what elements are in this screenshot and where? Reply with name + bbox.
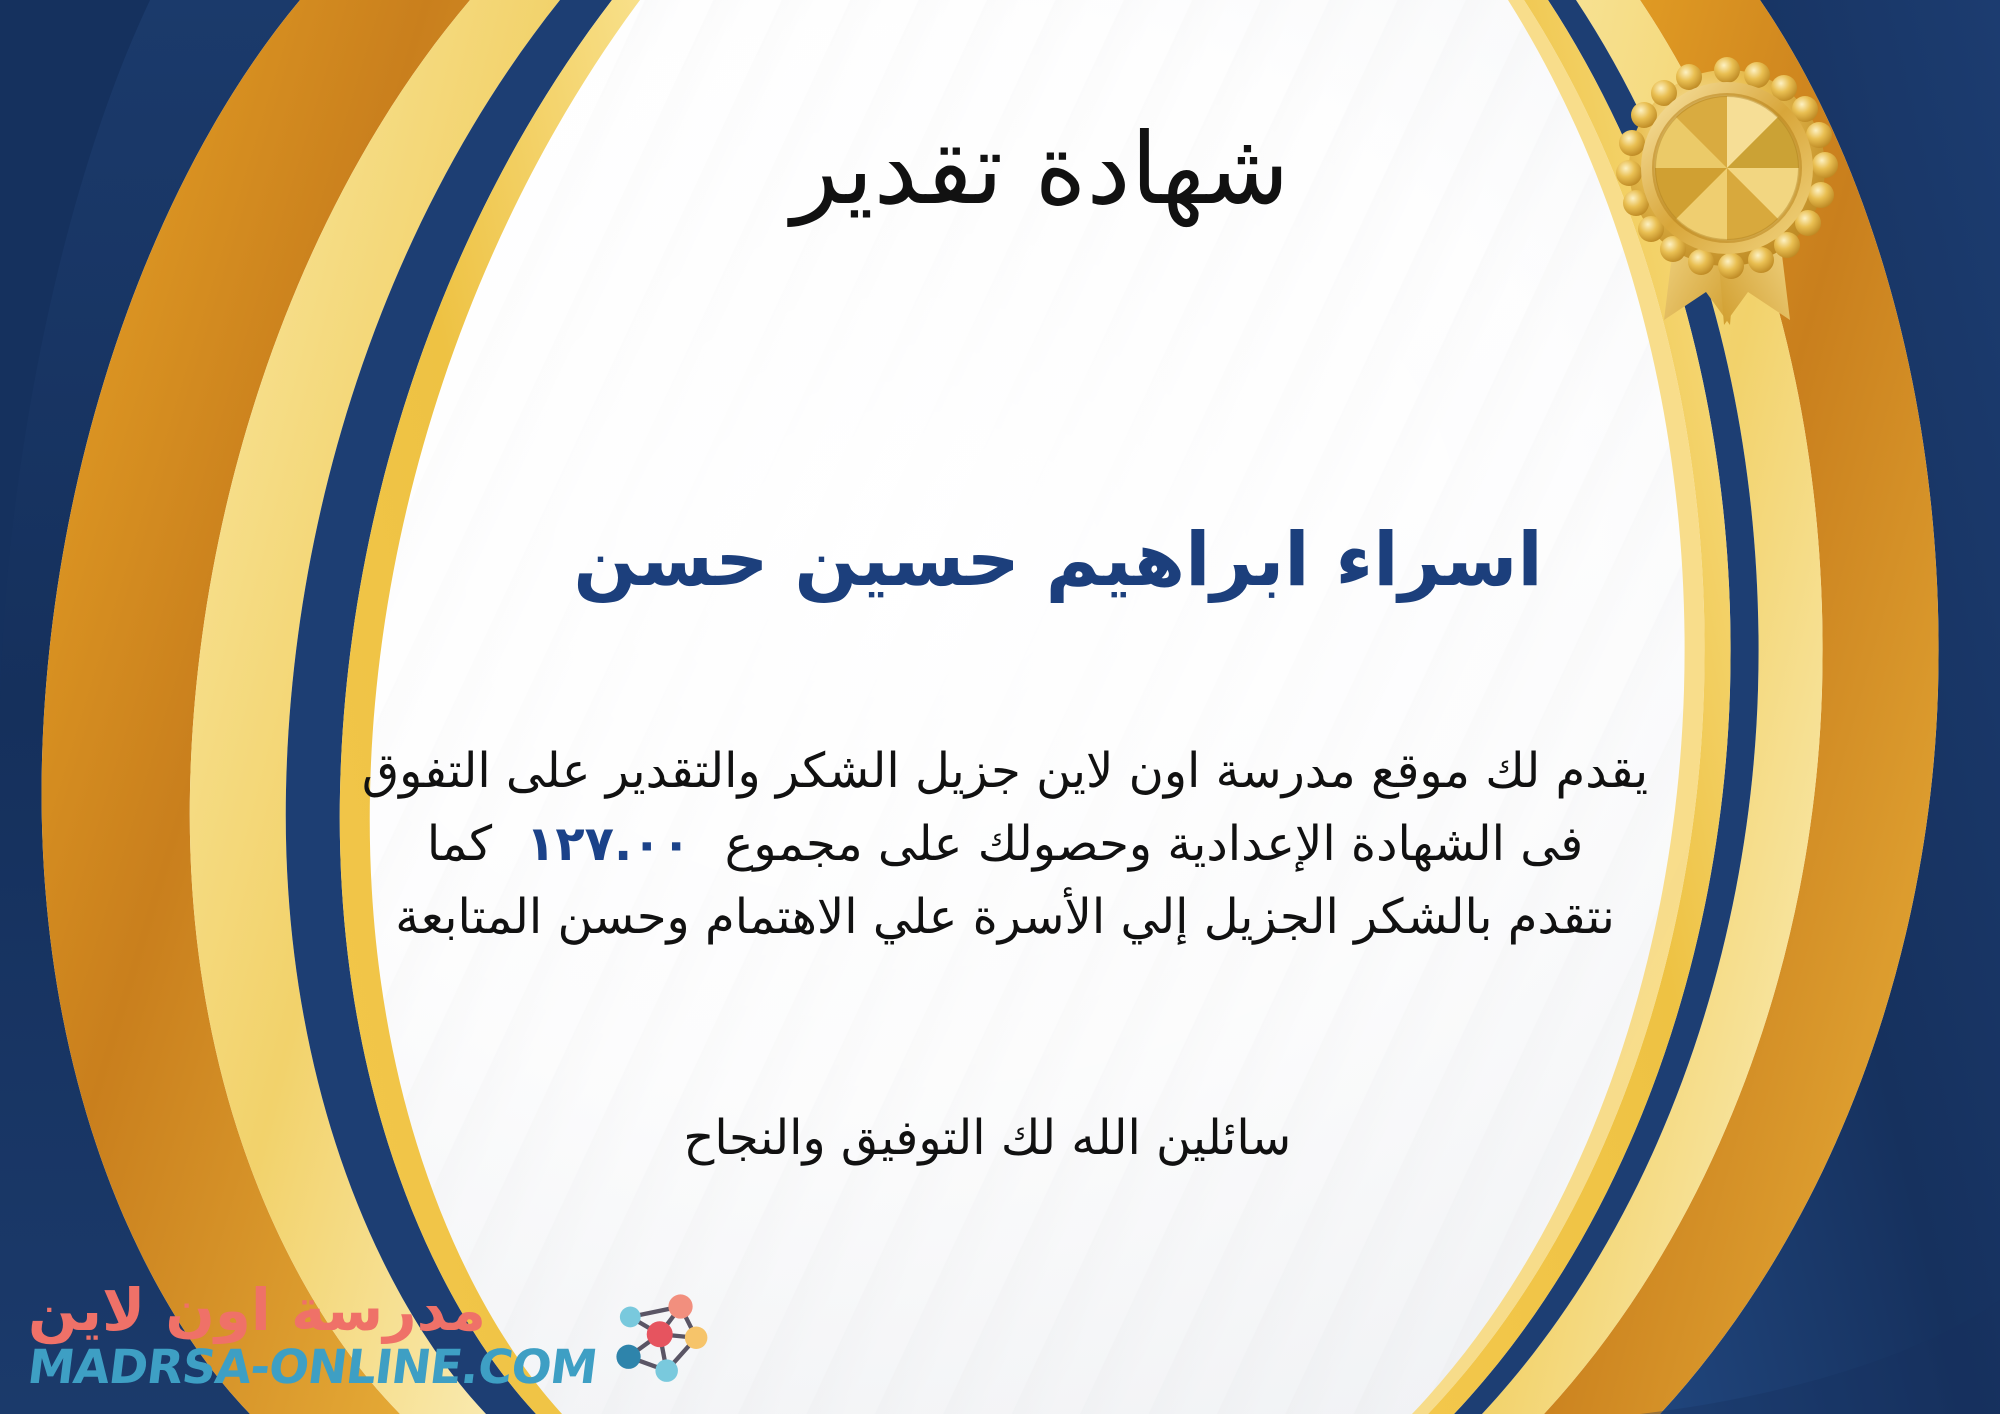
logo-text-group: مدرسة اون لاين MADRSA-ONLINE.COM: [28, 1281, 596, 1392]
site-logo[interactable]: مدرسة اون لاين MADRSA-ONLINE.COM: [28, 1281, 710, 1392]
logo-arabic-name: مدرسة اون لاين: [28, 1281, 486, 1339]
certificate-body: يقدم لك موقع مدرسة اون لاين جزيل الشكر و…: [120, 735, 1890, 954]
body-line-3: نتقدم بالشكر الجزيل إلي الأسرة علي الاهت…: [120, 881, 1890, 954]
total-score-value: ١٢٧.٠٠: [492, 816, 725, 872]
certificate-content: شهادة تقدير اسراء ابراهيم حسين حسن يقدم …: [120, 0, 1890, 1414]
logo-website-url: MADRSA-ONLINE.COM: [25, 1343, 599, 1392]
certificate-title: شهادة تقدير: [155, 118, 1925, 222]
body-line-2-suffix: كما: [427, 816, 492, 872]
body-line-2-prefix: فى الشهادة الإعدادية وحصولك على مجموع: [725, 816, 1583, 872]
student-name: اسراء ابراهيم حسين حسن: [173, 520, 1943, 601]
body-line-2: فى الشهادة الإعدادية وحصولك على مجموع١٢٧…: [120, 808, 1890, 881]
network-nodes-icon: [606, 1284, 710, 1388]
certificate-page: شهادة تقدير اسراء ابراهيم حسين حسن يقدم …: [0, 0, 2000, 1414]
body-line-1: يقدم لك موقع مدرسة اون لاين جزيل الشكر و…: [120, 735, 1890, 808]
closing-wish: سائلين الله لك التوفيق والنجاح: [102, 1105, 1872, 1172]
